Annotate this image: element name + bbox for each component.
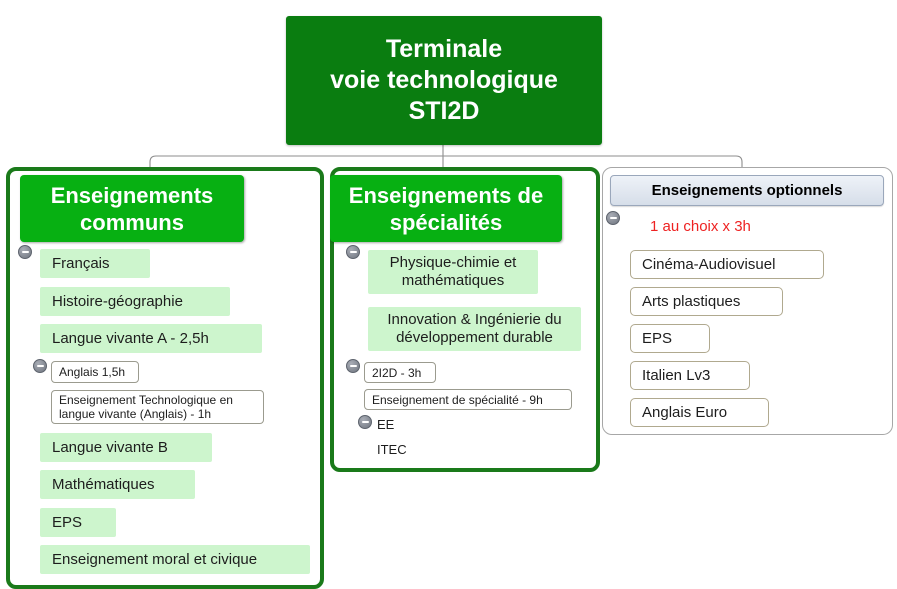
subleaf-label: 2I2D - 3h [372, 366, 428, 380]
leaf-label: Anglais Euro [642, 406, 757, 420]
leaf-specialites-physique-chimie-mathematiques[interactable]: Physique-chimie et mathématiques [368, 250, 538, 294]
leaf-communs-mathematiques[interactable]: Mathématiques [40, 470, 195, 499]
leaf-communs-histoire-geographie[interactable]: Histoire-géographie [40, 287, 230, 316]
note-label: 1 au choix x 3h [650, 218, 830, 235]
root-title-line1: Terminale [330, 34, 558, 65]
leaf-label: Mathématiques [52, 476, 183, 494]
leaf-optionnel-eps[interactable]: EPS [630, 324, 710, 353]
subleaf-etlv[interactable]: Enseignement Technologique en langue viv… [51, 390, 264, 424]
collapse-knob-specialites[interactable] [346, 245, 360, 259]
leaf-label: Arts plastiques [642, 295, 771, 309]
subleaf-enseignement-de-specialite-9h[interactable]: Enseignement de spécialité - 9h [364, 389, 572, 410]
leaf-communs-langue-vivante-b[interactable]: Langue vivante B [40, 433, 212, 462]
note-un-au-choix: 1 au choix x 3h [650, 215, 830, 237]
mindmap-canvas: Terminale voie technologique STI2D Ensei… [0, 0, 897, 589]
branch-header-specialites-line1: Enseignements [349, 183, 512, 208]
leaf-communs-eps[interactable]: EPS [40, 508, 116, 537]
subsubleaf-label: ITEC [377, 442, 437, 457]
collapse-knob-2i2d-options[interactable] [358, 415, 372, 429]
subleaf-label: Anglais 1,5h [59, 365, 131, 379]
leaf-label: Langue vivante B [52, 439, 200, 457]
leaf-label: Italien Lv3 [642, 369, 738, 383]
leaf-communs-enseignement-moral-et-civique[interactable]: Enseignement moral et civique [40, 545, 310, 574]
leaf-label: EPS [52, 514, 104, 532]
collapse-knob-optionnels[interactable] [606, 211, 620, 225]
leaf-label: Cinéma-Audiovisuel [642, 258, 812, 272]
subleaf-anglais-1h5[interactable]: Anglais 1,5h [51, 361, 139, 383]
subleaf-label: Enseignement de spécialité - 9h [372, 393, 564, 407]
leaf-label: Français [52, 255, 138, 273]
leaf-label: EPS [642, 332, 698, 346]
leaf-label: Enseignement moral et civique [52, 551, 298, 569]
branch-header-communs-line2: communs [80, 210, 184, 235]
root-title-line3: STI2D [330, 96, 558, 127]
leaf-label: Innovation & Ingénierie du développement… [380, 311, 569, 347]
leaf-specialites-innovation-ingenierie-dd[interactable]: Innovation & Ingénierie du développement… [368, 307, 581, 351]
leaf-optionnel-italien-lv3[interactable]: Italien Lv3 [630, 361, 750, 390]
subleaf-label: Enseignement Technologique en langue viv… [59, 393, 256, 421]
subleaf-2i2d-3h[interactable]: 2I2D - 3h [364, 362, 436, 383]
branch-header-optionnels-label: Enseignements optionnels [652, 182, 843, 199]
collapse-knob-communs[interactable] [18, 245, 32, 259]
root-title-line2: voie technologique [330, 65, 558, 96]
leaf-label: Histoire-géographie [52, 293, 218, 311]
leaf-communs-langue-vivante-a[interactable]: Langue vivante A - 2,5h [40, 324, 262, 353]
branch-header-optionnels[interactable]: Enseignements optionnels [610, 175, 884, 206]
subsubleaf-ee[interactable]: EE [377, 416, 437, 433]
branch-header-communs[interactable]: Enseignements communs [20, 175, 244, 242]
collapse-knob-specialites-sub[interactable] [346, 359, 360, 373]
leaf-label: Langue vivante A - 2,5h [52, 330, 250, 348]
leaf-optionnel-anglais-euro[interactable]: Anglais Euro [630, 398, 769, 427]
leaf-optionnel-arts-plastiques[interactable]: Arts plastiques [630, 287, 783, 316]
subsubleaf-label: EE [377, 417, 437, 432]
leaf-optionnel-cinema-audiovisuel[interactable]: Cinéma-Audiovisuel [630, 250, 824, 279]
leaf-communs-francais[interactable]: Français [40, 249, 150, 278]
leaf-label: Physique-chimie et mathématiques [380, 254, 526, 290]
branch-header-specialites[interactable]: Enseignements de spécialités [330, 175, 562, 242]
collapse-knob-langue-vivante-a[interactable] [33, 359, 47, 373]
branch-header-communs-line1: Enseignements [51, 183, 214, 208]
subsubleaf-itec[interactable]: ITEC [377, 441, 437, 458]
root-node[interactable]: Terminale voie technologique STI2D [286, 16, 602, 145]
